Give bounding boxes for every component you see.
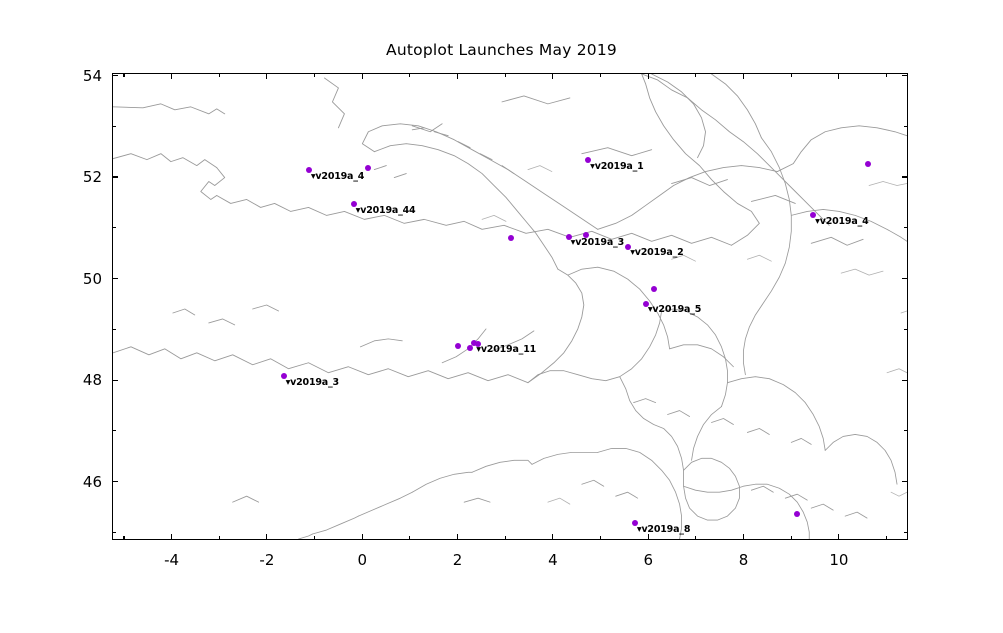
data-point[interactable] (455, 343, 461, 349)
y-axis-tick-label: 50 (62, 270, 102, 288)
x-axis-minor-tick (409, 536, 410, 540)
x-axis-minor-tick (886, 536, 887, 540)
y-axis-major-tick (902, 481, 908, 482)
x-axis-major-tick (648, 73, 649, 79)
x-axis-minor-tick (505, 73, 506, 77)
basemap-coastlines (113, 74, 907, 539)
data-point-label: ▾v2019a_1 (590, 161, 643, 172)
page-title: Autoplot Launches May 2019 (0, 41, 1003, 59)
data-point[interactable] (365, 165, 371, 171)
y-axis-minor-tick (904, 329, 908, 330)
x-axis-minor-tick (791, 536, 792, 540)
y-axis-major-tick (902, 278, 908, 279)
x-axis-major-tick (362, 534, 363, 540)
y-axis-major-tick (112, 176, 118, 177)
y-axis-major-tick (112, 481, 118, 482)
x-axis-minor-tick (123, 73, 124, 77)
data-point-label: ▾v2019a_5 (648, 304, 701, 315)
x-axis-minor-tick (123, 536, 124, 540)
y-axis-major-tick (902, 176, 908, 177)
data-point[interactable] (865, 161, 871, 167)
y-axis-minor-tick (904, 430, 908, 431)
y-axis-minor-tick (112, 430, 116, 431)
data-point-label: ▾v2019a_4 (311, 171, 364, 182)
y-axis-minor-tick (112, 126, 116, 127)
x-axis-minor-tick (600, 536, 601, 540)
x-axis-minor-tick (219, 73, 220, 77)
x-axis-minor-tick (505, 536, 506, 540)
x-axis-tick-label: -4 (164, 551, 179, 569)
y-axis-major-tick (902, 380, 908, 381)
x-axis-major-tick (838, 534, 839, 540)
x-axis-minor-tick (886, 73, 887, 77)
y-axis-major-tick (112, 380, 118, 381)
x-axis-major-tick (552, 73, 553, 79)
data-point-label: ▾v2019a_3 (571, 237, 624, 248)
y-axis-tick-label: 48 (62, 371, 102, 389)
y-axis-minor-tick (112, 329, 116, 330)
x-axis-tick-label: 6 (643, 551, 653, 569)
x-axis-major-tick (171, 73, 172, 79)
data-point[interactable] (467, 345, 473, 351)
y-axis-minor-tick (112, 532, 116, 533)
x-axis-minor-tick (409, 73, 410, 77)
x-axis-minor-tick (314, 73, 315, 77)
y-axis-tick-label: 46 (62, 473, 102, 491)
matplotlib-figure: Autoplot Launches May 2019 (0, 0, 1003, 633)
data-point[interactable] (651, 286, 657, 292)
y-axis-tick-label: 52 (62, 168, 102, 186)
x-axis-major-tick (743, 73, 744, 79)
x-axis-minor-tick (695, 536, 696, 540)
x-axis-tick-label: 10 (829, 551, 848, 569)
x-axis-major-tick (362, 73, 363, 79)
x-axis-major-tick (648, 534, 649, 540)
x-axis-major-tick (552, 534, 553, 540)
x-axis-minor-tick (600, 73, 601, 77)
data-point[interactable] (508, 235, 514, 241)
x-axis-tick-label: -2 (259, 551, 274, 569)
y-axis-major-tick (112, 278, 118, 279)
data-point-label: ▾v2019a_11 (476, 344, 536, 355)
y-axis-minor-tick (904, 126, 908, 127)
y-axis-minor-tick (904, 532, 908, 533)
data-point-label: ▾v2019a_4 (815, 216, 868, 227)
x-axis-minor-tick (695, 73, 696, 77)
data-point-label: ▾v2019a_44 (356, 205, 416, 216)
x-axis-tick-label: 2 (453, 551, 463, 569)
data-point-label: ▾v2019a_3 (286, 377, 339, 388)
x-axis-minor-tick (314, 536, 315, 540)
y-axis-minor-tick (112, 227, 116, 228)
plot-area (112, 73, 908, 540)
x-axis-tick-label: 4 (548, 551, 558, 569)
y-axis-minor-tick (904, 227, 908, 228)
y-axis-major-tick (112, 75, 118, 76)
data-point-label: ▾v2019a_8 (637, 524, 690, 535)
x-axis-major-tick (457, 534, 458, 540)
x-axis-minor-tick (791, 73, 792, 77)
data-point-label: ▾v2019a_2 (630, 247, 683, 258)
x-axis-major-tick (838, 73, 839, 79)
data-point[interactable] (794, 511, 800, 517)
x-axis-tick-label: 8 (739, 551, 749, 569)
x-axis-major-tick (743, 534, 744, 540)
x-axis-tick-label: 0 (357, 551, 367, 569)
x-axis-major-tick (266, 73, 267, 79)
x-axis-major-tick (266, 534, 267, 540)
y-axis-tick-label: 54 (62, 67, 102, 85)
data-point[interactable] (475, 341, 481, 347)
y-axis-major-tick (902, 75, 908, 76)
x-axis-major-tick (171, 534, 172, 540)
x-axis-minor-tick (219, 536, 220, 540)
data-point[interactable] (583, 232, 589, 238)
x-axis-major-tick (457, 73, 458, 79)
